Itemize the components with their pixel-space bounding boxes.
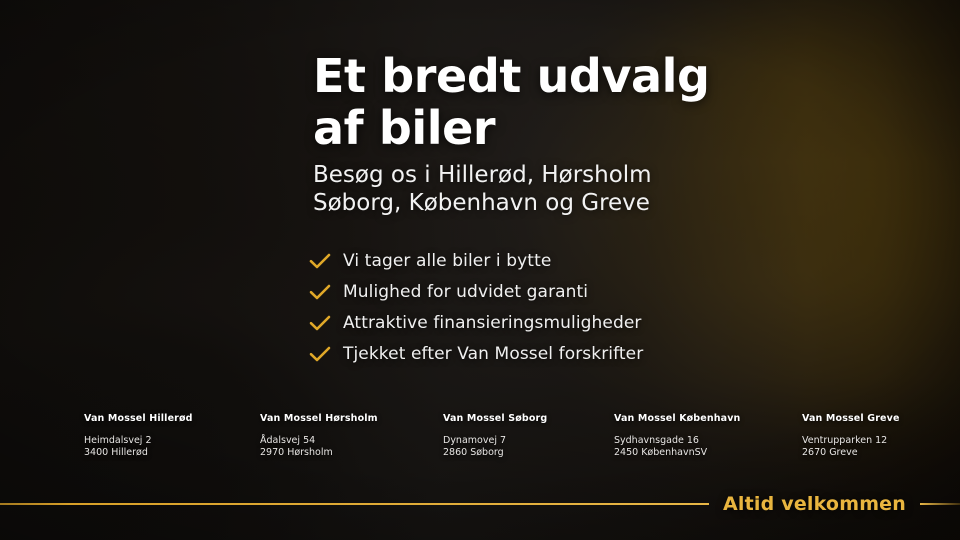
location-city: 2970 Hørsholm bbox=[260, 447, 378, 459]
tagline: Altid velkommen bbox=[709, 493, 920, 515]
location-list: Van Mossel Hillerød Heimdalsvej 2 3400 H… bbox=[0, 413, 960, 473]
feature-label: Vi tager alle biler i bytte bbox=[343, 251, 551, 271]
location-city: 2860 Søborg bbox=[443, 447, 547, 459]
feature-item: Tjekket efter Van Mossel forskrifter bbox=[309, 338, 643, 369]
location-name: Van Mossel Greve bbox=[802, 413, 900, 424]
location-item: Van Mossel Hørsholm Ådalsvej 54 2970 Hør… bbox=[260, 413, 378, 459]
divider-line-left bbox=[0, 503, 709, 505]
location-item: Van Mossel Greve Ventrupparken 12 2670 G… bbox=[802, 413, 900, 459]
feature-item: Mulighed for udvidet garanti bbox=[309, 276, 643, 307]
location-item: Van Mossel Søborg Dynamovej 7 2860 Søbor… bbox=[443, 413, 547, 459]
location-name: Van Mossel Hørsholm bbox=[260, 413, 378, 424]
location-name: Van Mossel Søborg bbox=[443, 413, 547, 424]
location-city: 3400 Hillerød bbox=[84, 447, 193, 459]
location-item: Van Mossel Hillerød Heimdalsvej 2 3400 H… bbox=[84, 413, 193, 459]
banner-content: Et bredt udvalg af biler Besøg os i Hill… bbox=[0, 0, 960, 540]
check-icon bbox=[309, 346, 343, 362]
feature-item: Attraktive finansieringsmuligheder bbox=[309, 307, 643, 338]
headline: Et bredt udvalg af biler bbox=[313, 50, 793, 154]
location-name: Van Mossel Hillerød bbox=[84, 413, 193, 424]
feature-label: Tjekket efter Van Mossel forskrifter bbox=[343, 344, 643, 364]
check-icon bbox=[309, 284, 343, 300]
feature-label: Attraktive finansieringsmuligheder bbox=[343, 313, 642, 333]
promo-banner: Et bredt udvalg af biler Besøg os i Hill… bbox=[0, 0, 960, 540]
location-city: 2670 Greve bbox=[802, 447, 900, 459]
location-city: 2450 KøbenhavnSV bbox=[614, 447, 740, 459]
check-icon bbox=[309, 315, 343, 331]
location-street: Sydhavnsgade 16 bbox=[614, 435, 740, 447]
location-street: Ventrupparken 12 bbox=[802, 435, 900, 447]
feature-label: Mulighed for udvidet garanti bbox=[343, 282, 588, 302]
subheadline: Besøg os i Hillerød, Hørsholm Søborg, Kø… bbox=[313, 161, 793, 217]
location-street: Ådalsvej 54 bbox=[260, 435, 378, 447]
feature-item: Vi tager alle biler i bytte bbox=[309, 245, 643, 276]
location-street: Heimdalsvej 2 bbox=[84, 435, 193, 447]
check-icon bbox=[309, 253, 343, 269]
location-item: Van Mossel København Sydhavnsgade 16 245… bbox=[614, 413, 740, 459]
footer-bar: Altid velkommen bbox=[0, 494, 960, 514]
location-street: Dynamovej 7 bbox=[443, 435, 547, 447]
feature-list: Vi tager alle biler i bytte Mulighed for… bbox=[309, 245, 643, 369]
divider-line-right bbox=[920, 503, 960, 505]
location-name: Van Mossel København bbox=[614, 413, 740, 424]
